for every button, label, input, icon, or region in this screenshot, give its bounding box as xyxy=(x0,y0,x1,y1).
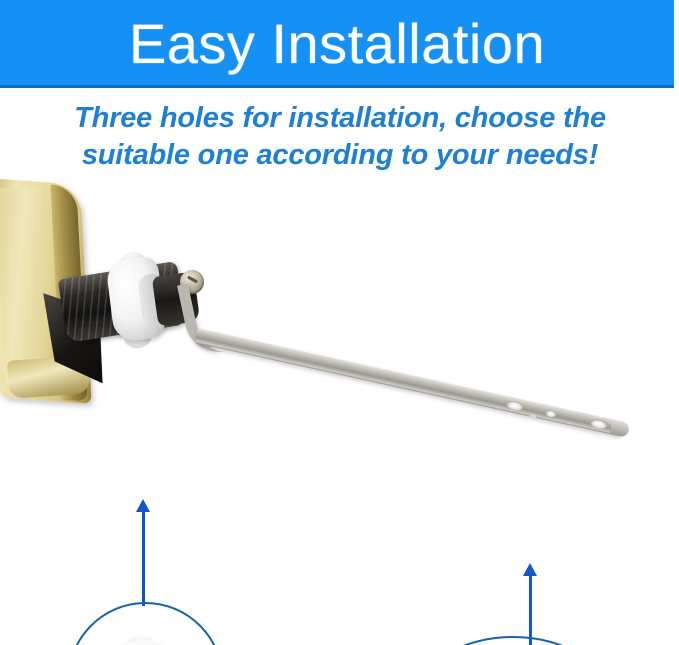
subtitle-line-1: Three holes for installation, choose the xyxy=(40,100,640,137)
header-banner: Easy Installation xyxy=(0,0,674,88)
subtitle-line-2: suitable one according to your needs! xyxy=(40,137,640,174)
subtitle-text: Three holes for installation, choose the… xyxy=(40,100,640,174)
product-photo xyxy=(0,170,679,645)
lever-arm-hole-1 xyxy=(506,399,525,411)
callout-circle-holes xyxy=(400,636,626,645)
lever-arm xyxy=(194,328,623,436)
detail-plastic-nut xyxy=(92,630,196,645)
lever-arm-hole-3 xyxy=(590,418,609,430)
callout-arrow-right xyxy=(529,574,532,645)
infographic-page: Easy Installation Three holes for instal… xyxy=(0,0,679,645)
lever-arm-end-cap xyxy=(609,419,630,438)
callout-arrow-left xyxy=(142,510,145,606)
page-title: Easy Installation xyxy=(0,0,674,88)
lever-arm-hole-2 xyxy=(545,409,557,418)
lever-arm-notch xyxy=(529,414,537,420)
